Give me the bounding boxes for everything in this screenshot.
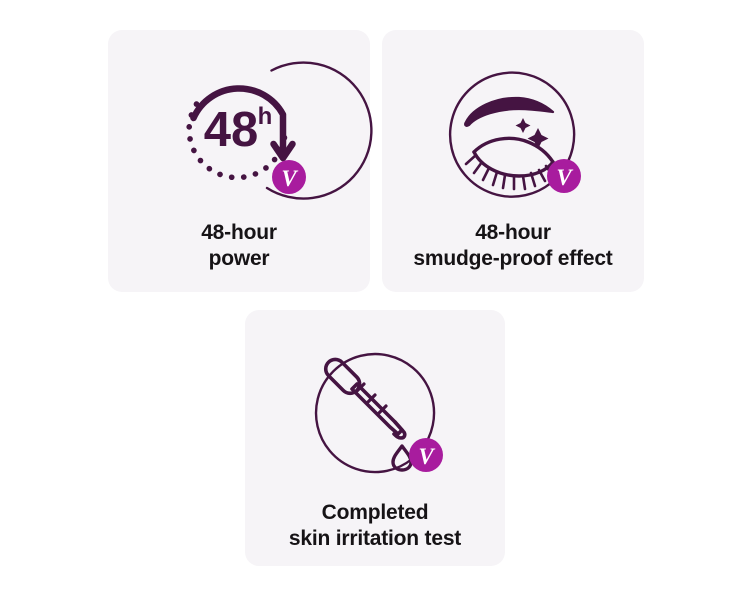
feature-card-label: 48-hour smudge-proof effect: [413, 220, 612, 272]
eyebrow-shape: [465, 98, 553, 126]
feature-card-label: Completed skin irritation test: [289, 500, 461, 552]
feature-card-skin-irritation-test[interactable]: V Completed skin irritation test: [245, 310, 505, 566]
timer-hours-unit: h: [258, 103, 273, 130]
eye-brow-sparkle-icon: V: [433, 52, 593, 212]
timer-48h-icon: 48 h V: [159, 52, 319, 212]
verified-check-badge-glyph: V: [418, 444, 435, 469]
timer-hours-number: 48: [204, 103, 259, 157]
sparkle-large-icon: [528, 128, 549, 149]
feature-card-label: 48-hour power: [201, 220, 277, 272]
pipette-barrel: [352, 384, 402, 434]
feature-card-48-hour-power[interactable]: 48 h V 48-hour power: [108, 30, 370, 292]
feature-badges-panel: 48 h V 48-hour power: [0, 0, 750, 605]
verified-check-badge-glyph: V: [281, 166, 298, 191]
sparkle-small-icon: [516, 118, 531, 133]
verified-check-badge-glyph: V: [556, 165, 573, 190]
feature-card-smudge-proof[interactable]: V 48-hour smudge-proof effect: [382, 30, 644, 292]
dropper-pipette-droplet-icon: V: [299, 334, 451, 486]
